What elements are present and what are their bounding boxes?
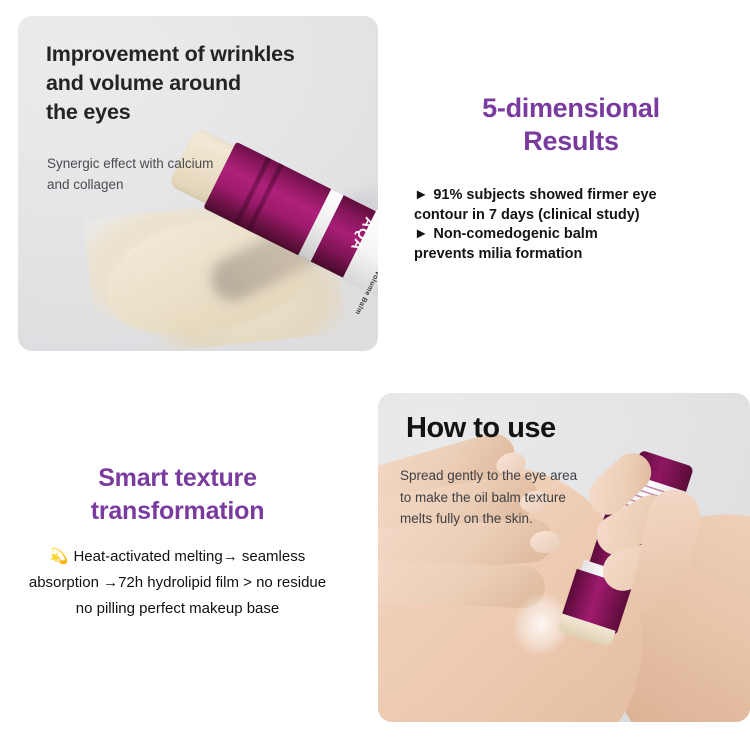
card-how-to-use: How to use Spread gently to the eye area…	[378, 393, 750, 722]
results-bullet-line-3: ►Non-comedogenic balm	[414, 225, 740, 245]
texture-body-copy: Heat-activated melting→ seamless absorpt…	[29, 548, 326, 617]
texture-title: Smart texture transformation	[0, 462, 355, 528]
results-bullet-line-4: prevents milia formation	[414, 245, 740, 265]
results-title: 5-dimensional Results	[396, 92, 746, 158]
results-bullet-line-1: ►91% subjects showed firmer eye	[414, 186, 740, 206]
results-bullet-line-1-text: 91% subjects showed firmer eye	[433, 187, 656, 203]
results-bullet-line-3-text: Non-comedogenic balm	[433, 226, 597, 242]
texture-body-text: 💫Heat-activated melting→ seamless absorp…	[0, 544, 355, 622]
bullet-pointer-icon: ►	[414, 187, 428, 203]
bullet-pointer-icon-2: ►	[414, 226, 428, 242]
results-bullet-list: ►91% subjects showed firmer eye contour …	[396, 186, 746, 264]
card-howto-title: How to use	[406, 411, 556, 445]
results-bullet-line-2: contour in 7 days (clinical study)	[414, 206, 740, 226]
card-wrinkles-subtitle: Synergic effect with calcium and collage…	[47, 153, 307, 195]
card-howto-subtitle: Spread gently to the eye area to make th…	[400, 465, 650, 530]
card-wrinkles-title: Improvement of wrinkles and volume aroun…	[46, 40, 346, 127]
texture-text-block: Smart texture transformation 💫Heat-activ…	[0, 462, 355, 622]
results-text-block: 5-dimensional Results ►91% subjects show…	[396, 92, 746, 264]
card-improvement-wrinkles: AQA Calcium Volume Balm SPF 30+ PA Impro…	[18, 16, 378, 351]
sparkle-emoji-icon: 💫	[50, 548, 69, 565]
